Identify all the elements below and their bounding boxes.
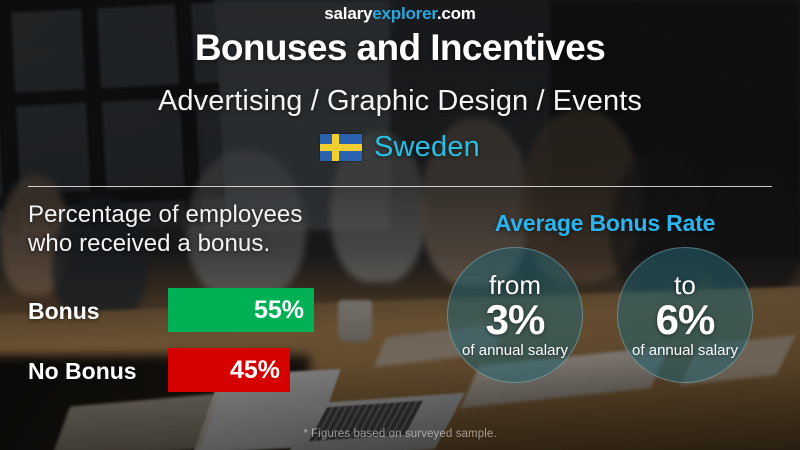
left-panel-lead: Percentage of employees who received a b… [28, 200, 418, 258]
logo-text-salary: salary [324, 4, 372, 23]
bar-bonus: 55% [168, 288, 314, 332]
bar-value-no-bonus: 45% [230, 356, 280, 384]
bar-label-bonus: Bonus [28, 296, 100, 326]
infographic-poster: salaryexplorer.com Bonuses and Incentive… [0, 0, 800, 450]
page-title: Bonuses and Incentives [0, 26, 800, 70]
logo-text-domain: .com [437, 4, 476, 23]
footnote: * Figures based on surveyed sample. [0, 428, 800, 440]
circle-value-from: 3% [486, 297, 545, 343]
bar-row-no-bonus: No Bonus 45% [28, 348, 328, 408]
average-bonus-rate-heading: Average Bonus Rate [420, 210, 790, 237]
circle-note-to: of annual salary [632, 342, 738, 360]
bar-label-no-bonus: No Bonus [28, 356, 137, 386]
circle-note-from: of annual salary [462, 342, 568, 360]
lead-line-2: who received a bonus. [28, 229, 418, 258]
sweden-flag-icon [320, 134, 362, 161]
circle-word-from: from [489, 271, 541, 299]
page-subtitle: Advertising / Graphic Design / Events [0, 82, 800, 120]
bonus-rate-circle-to: to 6% of annual salary [617, 247, 753, 383]
bar-row-bonus: Bonus 55% [28, 288, 328, 348]
header-divider [28, 186, 772, 187]
bar-value-bonus: 55% [254, 296, 304, 324]
site-logo[interactable]: salaryexplorer.com [0, 4, 800, 24]
bar-no-bonus: 45% [168, 348, 290, 392]
circle-value-to: 6% [656, 297, 715, 343]
country-name: Sweden [374, 131, 480, 164]
country-row: Sweden [0, 130, 800, 164]
circle-word-to: to [674, 271, 696, 299]
bonus-bar-chart: Bonus 55% No Bonus 45% [28, 288, 328, 408]
logo-text-explorer: explorer [372, 4, 437, 23]
poster-content: salaryexplorer.com Bonuses and Incentive… [0, 0, 800, 450]
bonus-rate-circle-from: from 3% of annual salary [447, 247, 583, 383]
lead-line-1: Percentage of employees [28, 200, 418, 229]
